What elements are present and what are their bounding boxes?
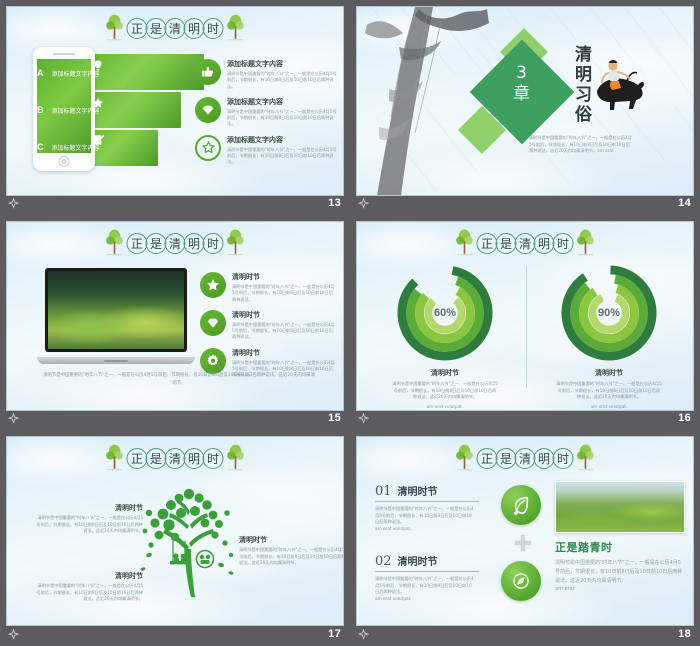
slide-grid: 正 是 清 明 时 bbox=[0, 0, 700, 646]
chapter-word: 章 bbox=[513, 84, 531, 104]
text-block-1[interactable]: 清明时节 清明节是中国重要的"时年八节"之一，一般是在公历4月5号前后，节期很长… bbox=[35, 503, 143, 535]
page-number: 18 bbox=[678, 628, 691, 640]
swing-tree-illustration bbox=[135, 485, 239, 597]
leaf-icon[interactable] bbox=[501, 485, 541, 525]
donut-body: 清明节是中国重要的"时年八节"之一，一般是在公历4月5号前后，节期很长，有10日… bbox=[392, 381, 498, 401]
block-body: 清明节是中国重要的"时年八节"之一，一般是在公历4月5号前后，节期很长，有10日… bbox=[35, 583, 143, 603]
item-heading: 01 清明时节 bbox=[375, 483, 479, 502]
chapter-mark: 3 章 bbox=[499, 63, 545, 106]
tree-icon bbox=[105, 228, 125, 258]
tree-icon bbox=[105, 443, 125, 473]
slide-cell-14[interactable]: 3 章 清明习俗 清明节是中国重要的"时年八节"之一，一般是在公历4月5号前后，… bbox=[350, 0, 700, 215]
donut-block-2: 90% 清明时节 清明节是中国重要的"时年八节"之一，一般是在公历4月5号前后，… bbox=[529, 264, 689, 411]
slide-cell-16[interactable]: 正 是 清 明 时 bbox=[350, 215, 700, 430]
item-body: 清明节是中国重要的"时年八节"之一，一般是在公历4月5号前后，节期很长，有10日… bbox=[375, 576, 475, 596]
feature-title: 清明时节 bbox=[232, 272, 336, 282]
header-char-4: 明 bbox=[184, 233, 205, 254]
header-char-4: 明 bbox=[184, 18, 205, 39]
text-block-2[interactable]: 清明时节 清明节是中国重要的"时年八节"之一，一般是在公历4月5号前后，节期很长… bbox=[35, 571, 143, 603]
chapter-description: 清明节是中国重要的"时年八节"之一，一般是在公历4月5号前后，节期很长，有10日… bbox=[529, 135, 633, 155]
donut-body: 清明节是中国重要的"时年八节"之一，一般是在公历4月5号前后，节期很长，有10日… bbox=[556, 381, 662, 401]
feature-body: 清明节是中国重要的"时年八节"之一，一般是在公历4月5号前后，节期很长，有10日… bbox=[232, 284, 336, 303]
slide-footer: 15 bbox=[0, 406, 350, 430]
lightbulb-icon bbox=[91, 59, 105, 73]
page-number: 16 bbox=[678, 412, 691, 424]
header-char-3: 清 bbox=[165, 233, 186, 254]
sparkle-icon[interactable] bbox=[358, 413, 369, 424]
sparkle-icon[interactable] bbox=[8, 413, 19, 424]
column-divider bbox=[526, 266, 527, 388]
tree-icon bbox=[455, 228, 475, 258]
row-key-b: B bbox=[37, 105, 47, 115]
star-icon bbox=[91, 96, 105, 110]
numbered-item-01[interactable]: 01 清明时节 清明节是中国重要的"时年八节"之一，一般是在公历4月5号前后，节… bbox=[375, 483, 497, 533]
tree-icon bbox=[226, 443, 246, 473]
numbered-list: 01 清明时节 清明节是中国重要的"时年八节"之一，一般是在公历4月5号前后，节… bbox=[375, 483, 497, 623]
header-char-3: 清 bbox=[165, 18, 186, 39]
block-body: 清明节是中国重要的"时年八节"之一，一般是在公历4月5号前后，节期很长，有10日… bbox=[35, 515, 143, 535]
sparkle-icon[interactable] bbox=[8, 198, 19, 209]
slide-footer: 17 bbox=[0, 622, 350, 646]
header-characters: 正 是 清 明 时 bbox=[477, 448, 574, 469]
compass-icon[interactable] bbox=[501, 561, 541, 601]
slide-header-badge: 正 是 清 明 时 bbox=[455, 443, 596, 473]
donut-chart-90: 90% bbox=[560, 264, 658, 362]
tree-icon bbox=[576, 443, 596, 473]
row-key-c: C bbox=[37, 142, 47, 152]
sparkle-icon[interactable] bbox=[358, 629, 369, 640]
laptop-mockup bbox=[37, 268, 195, 364]
slide-cell-13[interactable]: 正 是 清 明 时 bbox=[0, 0, 350, 215]
item-lorem: am erat volutpat. bbox=[375, 596, 475, 603]
donut-title: 清明时节 bbox=[365, 368, 525, 378]
feature-body: 清明节是中国重要的"时年八节"之一，一般是在公历4月5号前后，节期很长，有10日… bbox=[227, 147, 337, 166]
header-characters: 正 是 清 明 时 bbox=[477, 233, 574, 254]
home-icon bbox=[61, 158, 68, 165]
page-number: 13 bbox=[328, 197, 341, 209]
feature-body: 清明节是中国重要的"时年八节"之一，一般是在公历4月5号前后，节期很长，有10日… bbox=[227, 71, 337, 90]
block-title: 清明时节 bbox=[35, 503, 143, 513]
plus-icon bbox=[512, 532, 534, 554]
slide-footer: 18 bbox=[350, 622, 700, 646]
donut-block-1: 60% 清明时节 清明节是中国重要的"时年八节"之一，一般是在公历4月5号前后，… bbox=[365, 264, 525, 411]
tree-icon bbox=[226, 13, 246, 43]
header-char-1: 正 bbox=[127, 448, 148, 469]
donut-lorem: am erat volutpat. bbox=[556, 404, 662, 411]
laptop-base bbox=[37, 357, 195, 364]
header-char-5: 时 bbox=[203, 233, 224, 254]
feature-list: 清明时节 清明节是中国重要的"时年八节"之一，一般是在公历4月5号前后，节期很长… bbox=[200, 272, 336, 386]
feature-title: 清明时节 bbox=[232, 348, 336, 358]
header-char-4: 明 bbox=[534, 233, 555, 254]
slide-cell-18[interactable]: 正 是 清 明 时 01 清明时节 清明节是中国重要的"时年八节"之一，一般是在… bbox=[350, 430, 700, 646]
feature-list: 添加标题文字内容 清明节是中国重要的"时年八节"之一，一般是在公历4月5号前后，… bbox=[195, 59, 337, 173]
header-char-3: 清 bbox=[515, 448, 536, 469]
diamond-icon bbox=[200, 310, 226, 336]
header-characters: 正 是 清 明 时 bbox=[127, 233, 224, 254]
tree-icon bbox=[105, 13, 125, 43]
header-char-5: 时 bbox=[553, 233, 574, 254]
slide-18[interactable]: 正 是 清 明 时 01 清明时节 清明节是中国重要的"时年八节"之一，一般是在… bbox=[356, 436, 694, 626]
feature-item[interactable]: 添加标题文字内容 清明节是中国重要的"时年八节"之一，一般是在公历4月5号前后，… bbox=[195, 97, 337, 128]
feature-body: 清明节是中国重要的"时年八节"之一，一般是在公历4月5号前后，节期很长，有10日… bbox=[227, 109, 337, 128]
slide-header-badge: 正 是 清 明 时 bbox=[105, 13, 246, 43]
page-number: 17 bbox=[328, 628, 341, 640]
donut-value-label: 60% bbox=[396, 307, 494, 319]
item-title: 清明时节 bbox=[398, 483, 438, 498]
header-char-4: 明 bbox=[184, 448, 205, 469]
chapter-number: 3 bbox=[516, 63, 528, 83]
feature-title: 添加标题文字内容 bbox=[227, 135, 337, 145]
laptop-screen bbox=[45, 268, 187, 352]
header-char-2: 是 bbox=[496, 233, 517, 254]
panel-body: 清明节是中国重要的"时年八节"之一，一般是在公历4月5号前后，节期很长，有10日… bbox=[555, 559, 685, 585]
header-char-2: 是 bbox=[146, 233, 167, 254]
page-number: 14 bbox=[678, 197, 691, 209]
star-outline-icon bbox=[200, 272, 226, 298]
item-body: 清明节是中国重要的"时年八节"之一，一般是在公历4月5号前后，节期很长，有10日… bbox=[375, 506, 475, 526]
feature-title: 添加标题文字内容 bbox=[227, 97, 337, 107]
block-title: 清明时节 bbox=[35, 571, 143, 581]
sparkle-icon[interactable] bbox=[358, 198, 369, 209]
tree-icon bbox=[455, 443, 475, 473]
grass-photo bbox=[48, 271, 184, 349]
feature-item[interactable]: 清明时节 清明节是中国重要的"时年八节"之一，一般是在公历4月5号前后，节期很长… bbox=[200, 310, 336, 341]
feature-title: 添加标题文字内容 bbox=[227, 59, 337, 69]
feature-item[interactable]: 添加标题文字内容 清明节是中国重要的"时年八节"之一，一般是在公历4月5号前后，… bbox=[195, 59, 337, 90]
laptop-notch bbox=[104, 360, 128, 362]
phone-speaker bbox=[53, 53, 75, 55]
icon-column bbox=[501, 485, 545, 601]
checklist-icon bbox=[91, 133, 105, 147]
header-char-2: 是 bbox=[146, 448, 167, 469]
item-title: 清明时节 bbox=[398, 553, 438, 568]
header-char-3: 清 bbox=[515, 233, 536, 254]
header-characters: 正 是 清 明 时 bbox=[127, 18, 224, 39]
block-title: 清明时节 bbox=[239, 535, 344, 545]
slide-cell-15[interactable]: 正 是 清 明 时 bbox=[0, 215, 350, 430]
feature-item[interactable]: 添加标题文字内容 清明节是中国重要的"时年八节"之一，一般是在公历4月5号前后，… bbox=[195, 135, 337, 166]
header-char-5: 时 bbox=[203, 448, 224, 469]
boy-on-ox-illustration bbox=[583, 57, 645, 115]
right-panel: 正是踏青时 清明节是中国重要的"时年八节"之一，一般是在公历4月5号前后，节期很… bbox=[555, 481, 685, 594]
thumbs-up-icon bbox=[195, 59, 221, 85]
header-char-1: 正 bbox=[127, 18, 148, 39]
donut-lorem: am erat volutpat. bbox=[392, 404, 498, 411]
feature-item[interactable]: 清明时节 清明节是中国重要的"时年八节"之一，一般是在公历4月5号前后，节期很长… bbox=[200, 272, 336, 303]
slide-17[interactable]: 正 是 清 明 时 bbox=[6, 436, 344, 626]
slide-header-badge: 正 是 清 明 时 bbox=[105, 228, 246, 258]
header-char-1: 正 bbox=[127, 233, 148, 254]
block-body: 清明节是中国重要的"时年八节"之一，一般是在公历4月5号前后，节期很长，有10日… bbox=[239, 547, 344, 567]
donut-title: 清明时节 bbox=[529, 368, 689, 378]
slide-header-badge: 正 是 清 明 时 bbox=[105, 443, 246, 473]
tree-icon bbox=[226, 228, 246, 258]
slide-footer: 13 bbox=[0, 191, 350, 215]
slide-14[interactable]: 3 章 清明习俗 清明节是中国重要的"时年八节"之一，一般是在公历4月5号前后，… bbox=[356, 6, 694, 196]
donut-value-label: 90% bbox=[560, 307, 658, 319]
text-block-3[interactable]: 清明时节 清明节是中国重要的"时年八节"之一，一般是在公历4月5号前后，节期很长… bbox=[239, 535, 344, 567]
slide-header-badge: 正 是 清 明 时 bbox=[455, 228, 596, 258]
phone-home-button[interactable] bbox=[59, 156, 70, 167]
header-char-2: 是 bbox=[146, 18, 167, 39]
slide-16[interactable]: 正 是 清 明 时 bbox=[356, 221, 694, 411]
header-char-4: 明 bbox=[534, 448, 555, 469]
item-heading: 02 清明时节 bbox=[375, 553, 479, 572]
item-number: 02 bbox=[375, 554, 392, 569]
feature-title: 清明时节 bbox=[232, 310, 336, 320]
item-number: 01 bbox=[375, 484, 392, 499]
header-characters: 正 是 清 明 时 bbox=[127, 448, 224, 469]
numbered-item-02[interactable]: 02 清明时节 清明节是中国重要的"时年八节"之一，一般是在公历4月5号前后，节… bbox=[375, 553, 497, 603]
diamond-icon bbox=[195, 97, 221, 123]
panel-subtitle: 正是踏青时 bbox=[555, 539, 685, 555]
feature-body: 清明节是中国重要的"时年八节"之一，一般是在公历4月5号前后，节期很长，有10日… bbox=[232, 322, 336, 341]
tea-terrace-photo bbox=[555, 481, 685, 533]
item-lorem: am erat volutpat. bbox=[375, 526, 475, 533]
gear-icon bbox=[200, 348, 226, 374]
header-char-3: 清 bbox=[165, 448, 186, 469]
header-char-1: 正 bbox=[477, 448, 498, 469]
page-number: 15 bbox=[328, 412, 341, 424]
header-char-5: 时 bbox=[553, 448, 574, 469]
donut-chart-60: 60% bbox=[396, 264, 494, 362]
header-char-2: 是 bbox=[496, 448, 517, 469]
slide-caption: 清明节是中国重要的"时年八节"之一，一般是在公历4月5号前后，节期很长，有10日… bbox=[43, 372, 315, 388]
slide-15[interactable]: 正 是 清 明 时 bbox=[6, 221, 344, 411]
slide-13[interactable]: 正 是 清 明 时 bbox=[6, 6, 344, 196]
star-outline-icon bbox=[195, 135, 221, 161]
row-key-a: A bbox=[37, 68, 47, 78]
tree-icon bbox=[576, 228, 596, 258]
header-char-1: 正 bbox=[477, 233, 498, 254]
header-char-5: 时 bbox=[203, 18, 224, 39]
slide-cell-17[interactable]: 正 是 清 明 时 bbox=[0, 430, 350, 646]
sparkle-icon[interactable] bbox=[8, 629, 19, 640]
panel-lorem: am erat bbox=[555, 585, 685, 594]
